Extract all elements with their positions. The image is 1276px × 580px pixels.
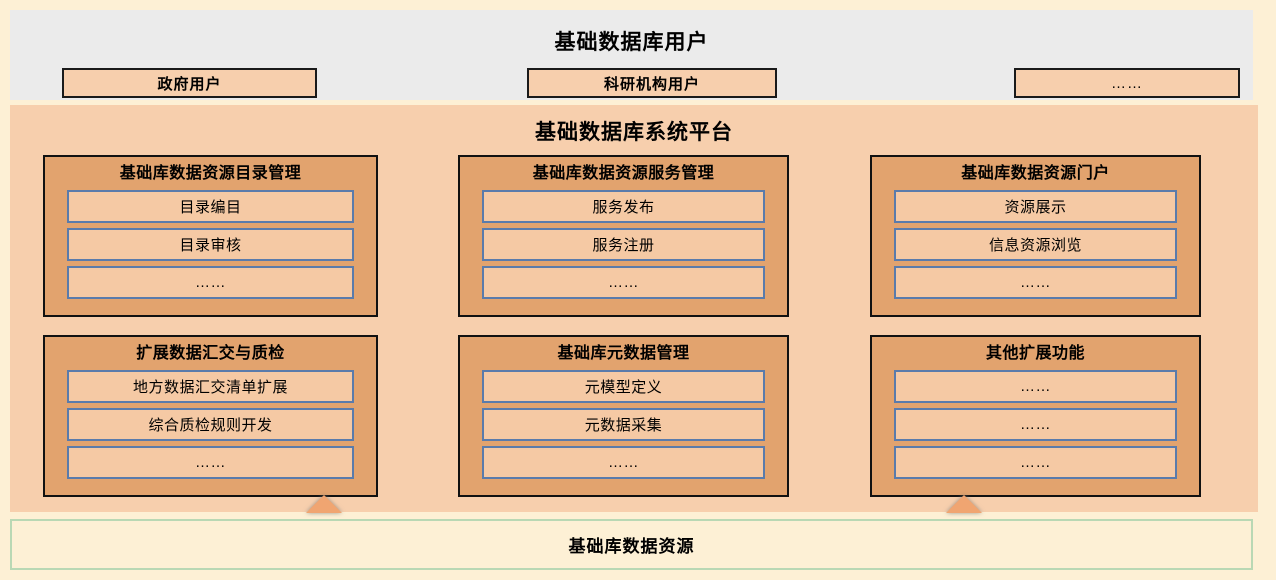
module-item-list: 地方数据汇交清单扩展 综合质检规则开发 …… <box>45 370 376 487</box>
module-service-management[interactable]: 基础库数据资源服务管理 服务发布 服务注册 …… <box>458 155 789 317</box>
module-title: 其他扩展功能 <box>872 344 1199 364</box>
module-item[interactable]: …… <box>67 446 354 479</box>
module-item-list: …… …… …… <box>872 370 1199 487</box>
module-item-list: 元模型定义 元数据采集 …… <box>460 370 787 487</box>
module-item[interactable]: 服务注册 <box>482 228 765 261</box>
module-grid: 基础库数据资源目录管理 目录编目 目录审核 …… 基础库数据资源服务管理 服务发… <box>10 150 1258 505</box>
module-data-submission-quality[interactable]: 扩展数据汇交与质检 地方数据汇交清单扩展 综合质检规则开发 …… <box>43 335 378 497</box>
module-other-extensions[interactable]: 其他扩展功能 …… …… …… <box>870 335 1201 497</box>
module-item[interactable]: …… <box>894 370 1177 403</box>
module-item[interactable]: 综合质检规则开发 <box>67 408 354 441</box>
module-title: 扩展数据汇交与质检 <box>45 344 376 364</box>
module-item[interactable]: 元数据采集 <box>482 408 765 441</box>
module-item-list: 资源展示 信息资源浏览 …… <box>872 190 1199 307</box>
module-item[interactable]: 资源展示 <box>894 190 1177 223</box>
module-item[interactable]: …… <box>482 266 765 299</box>
module-title: 基础库数据资源门户 <box>872 164 1199 184</box>
user-button-more[interactable]: …… <box>1014 68 1240 98</box>
resource-band: 基础库数据资源 <box>10 519 1253 570</box>
users-band-title: 基础数据库用户 <box>10 32 1253 54</box>
module-item[interactable]: …… <box>894 408 1177 441</box>
module-item[interactable]: 地方数据汇交清单扩展 <box>67 370 354 403</box>
module-item[interactable]: 目录审核 <box>67 228 354 261</box>
module-item[interactable]: …… <box>482 446 765 479</box>
module-item-list: 目录编目 目录审核 …… <box>45 190 376 307</box>
up-arrow-icon <box>946 495 982 513</box>
module-item[interactable]: 服务发布 <box>482 190 765 223</box>
user-button-government[interactable]: 政府用户 <box>62 68 317 98</box>
module-item-list: 服务发布 服务注册 …… <box>460 190 787 307</box>
module-catalog-management[interactable]: 基础库数据资源目录管理 目录编目 目录审核 …… <box>43 155 378 317</box>
module-item[interactable]: 元模型定义 <box>482 370 765 403</box>
module-item[interactable]: …… <box>894 446 1177 479</box>
user-button-research-institution[interactable]: 科研机构用户 <box>527 68 777 98</box>
module-item[interactable]: 信息资源浏览 <box>894 228 1177 261</box>
module-title: 基础库数据资源目录管理 <box>45 164 376 184</box>
module-metadata-management[interactable]: 基础库元数据管理 元模型定义 元数据采集 …… <box>458 335 789 497</box>
platform-title: 基础数据库系统平台 <box>10 116 1258 146</box>
resource-band-title: 基础库数据资源 <box>569 532 695 557</box>
users-band: 基础数据库用户 政府用户 科研机构用户 …… <box>10 10 1253 100</box>
up-arrow-icon <box>306 495 342 513</box>
module-title: 基础库元数据管理 <box>460 344 787 364</box>
module-item[interactable]: 目录编目 <box>67 190 354 223</box>
module-item[interactable]: …… <box>67 266 354 299</box>
module-item[interactable]: …… <box>894 266 1177 299</box>
architecture-diagram: 基础数据库用户 政府用户 科研机构用户 …… 基础数据库系统平台 基础库数据资源… <box>0 0 1276 580</box>
module-title: 基础库数据资源服务管理 <box>460 164 787 184</box>
platform-section: 基础数据库系统平台 基础库数据资源目录管理 目录编目 目录审核 …… 基础库数据… <box>10 105 1258 512</box>
module-resource-portal[interactable]: 基础库数据资源门户 资源展示 信息资源浏览 …… <box>870 155 1201 317</box>
